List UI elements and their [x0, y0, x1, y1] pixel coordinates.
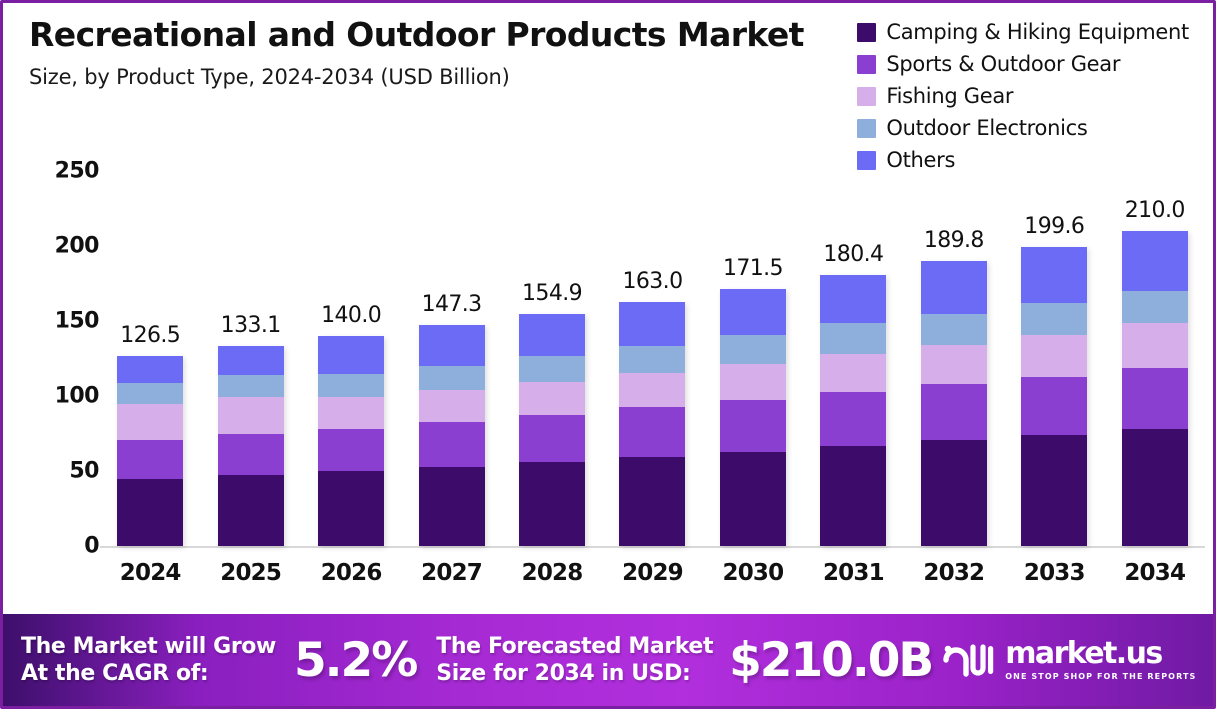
bar-segment[interactable]: [720, 452, 786, 546]
bar-segment[interactable]: [1021, 303, 1087, 335]
bar-segment[interactable]: [117, 479, 183, 547]
bar-segment[interactable]: [1122, 323, 1188, 368]
y-axis: 050100150200250: [23, 171, 99, 553]
bar-stack[interactable]: [720, 289, 786, 546]
bar-stack[interactable]: [419, 325, 485, 546]
legend-item-label: Camping & Hiking Equipment: [886, 20, 1189, 44]
forecast-label: The Forecasted Market Size for 2034 in U…: [436, 633, 713, 688]
bar-segment[interactable]: [720, 289, 786, 336]
bar-segment[interactable]: [419, 366, 485, 389]
footer-banner: The Market will Grow At the CAGR of: 5.2…: [3, 614, 1216, 706]
bar-segment[interactable]: [519, 382, 585, 415]
legend-item[interactable]: Camping & Hiking Equipment: [857, 17, 1189, 47]
legend-item-label: Sports & Outdoor Gear: [886, 52, 1120, 76]
bar-segment[interactable]: [820, 323, 886, 354]
forecast-value: $210.0B: [729, 633, 932, 688]
chart-header: Recreational and Outdoor Products Market…: [29, 17, 829, 89]
bar-total-label: 199.6: [1024, 214, 1084, 239]
legend-swatch-icon: [857, 151, 876, 170]
bar-stack[interactable]: [619, 302, 685, 547]
bar-segment[interactable]: [820, 446, 886, 546]
bar-segment[interactable]: [218, 434, 284, 474]
bar-segment[interactable]: [419, 467, 485, 546]
x-axis-tick-label: 2024: [104, 560, 196, 586]
bar-segment[interactable]: [419, 325, 485, 366]
legend-item-label: Others: [886, 148, 955, 172]
cagr-label-line2: At the CAGR of:: [21, 661, 208, 686]
bar-segment[interactable]: [519, 415, 585, 462]
y-axis-tick-label: 150: [55, 309, 99, 334]
market-us-logo[interactable]: market.us ONE STOP SHOP FOR THE REPORTS: [942, 639, 1196, 681]
x-axis-tick-label: 2033: [1008, 560, 1100, 586]
bar-total-label: 210.0: [1125, 198, 1185, 223]
bar-segment[interactable]: [419, 390, 485, 422]
legend-swatch-icon: [857, 23, 876, 42]
x-axis-tick-label: 2032: [908, 560, 1000, 586]
bar-total-label: 133.1: [221, 313, 281, 338]
bar-total-label: 154.9: [522, 281, 582, 306]
bar-group[interactable]: 189.8: [908, 171, 1000, 546]
bar-segment[interactable]: [419, 422, 485, 468]
y-axis-tick-label: 100: [55, 384, 99, 409]
bar-segment[interactable]: [318, 429, 384, 471]
x-axis-tick-label: 2027: [406, 560, 498, 586]
bar-segment[interactable]: [117, 404, 183, 440]
bar-group[interactable]: 180.4: [807, 171, 899, 546]
bar-segment[interactable]: [318, 374, 384, 398]
y-axis-tick-label: 50: [69, 459, 99, 484]
bar-segment[interactable]: [720, 364, 786, 400]
bar-segment[interactable]: [1021, 247, 1087, 303]
bar-segment[interactable]: [820, 392, 886, 447]
bar-segment[interactable]: [117, 356, 183, 383]
chart-subtitle: Size, by Product Type, 2024-2034 (USD Bi…: [29, 65, 829, 89]
y-axis-tick-label: 250: [55, 159, 99, 184]
bar-group[interactable]: 133.1: [205, 171, 297, 546]
bar-stack[interactable]: [820, 275, 886, 546]
x-axis-tick-label: 2026: [305, 560, 397, 586]
bar-group[interactable]: 126.5: [104, 171, 196, 546]
bar-segment[interactable]: [1021, 435, 1087, 546]
chart-legend: Camping & Hiking EquipmentSports & Outdo…: [857, 17, 1189, 175]
bar-segment[interactable]: [1122, 368, 1188, 430]
bar-stack[interactable]: [218, 346, 284, 546]
legend-swatch-icon: [857, 119, 876, 138]
bar-segment[interactable]: [1021, 335, 1087, 376]
bar-segment[interactable]: [921, 440, 987, 546]
bar-total-label: 140.0: [321, 303, 381, 328]
y-axis-tick-label: 0: [84, 534, 99, 559]
bar-group[interactable]: 171.5: [707, 171, 799, 546]
x-axis: 2024202520262027202820292030203120322033…: [100, 560, 1205, 586]
bar-segment[interactable]: [921, 261, 987, 314]
cagr-label: The Market will Grow At the CAGR of:: [21, 633, 276, 688]
legend-item[interactable]: Fishing Gear: [857, 81, 1013, 111]
x-axis-tick-label: 2031: [807, 560, 899, 586]
bar-segment[interactable]: [1122, 291, 1188, 323]
market-us-logo-mark-icon: [942, 640, 996, 680]
bar-segment[interactable]: [318, 397, 384, 429]
bar-segment[interactable]: [519, 462, 585, 546]
bar-segment[interactable]: [1122, 429, 1188, 546]
bar-segment[interactable]: [218, 346, 284, 375]
bar-segment[interactable]: [921, 384, 987, 440]
legend-item[interactable]: Sports & Outdoor Gear: [857, 49, 1120, 79]
bar-segment[interactable]: [318, 336, 384, 374]
bar-segment[interactable]: [1122, 231, 1188, 291]
cagr-value: 5.2%: [294, 633, 416, 688]
bar-segment[interactable]: [318, 471, 384, 546]
bar-segment[interactable]: [619, 407, 685, 457]
bar-total-label: 171.5: [723, 256, 783, 281]
bar-total-label: 163.0: [622, 269, 682, 294]
x-axis-tick-label: 2034: [1109, 560, 1201, 586]
bar-stack[interactable]: [519, 314, 585, 546]
bar-group[interactable]: 163.0: [606, 171, 698, 546]
bar-segment[interactable]: [619, 346, 685, 373]
bar-segment[interactable]: [117, 440, 183, 478]
page-title: Recreational and Outdoor Products Market: [29, 17, 829, 54]
x-axis-tick-label: 2025: [205, 560, 297, 586]
x-axis-tick-label: 2030: [707, 560, 799, 586]
bar-segment[interactable]: [619, 302, 685, 346]
infographic-root: Recreational and Outdoor Products Market…: [0, 0, 1216, 709]
bar-segment[interactable]: [921, 314, 987, 346]
bar-group[interactable]: 147.3: [406, 171, 498, 546]
x-axis-tick-label: 2029: [606, 560, 698, 586]
bar-segment[interactable]: [820, 354, 886, 392]
bar-segment[interactable]: [619, 457, 685, 546]
bar-group[interactable]: 140.0: [305, 171, 397, 546]
legend-item-label: Outdoor Electronics: [886, 116, 1087, 140]
bar-segment[interactable]: [218, 397, 284, 435]
bar-segment[interactable]: [1021, 377, 1087, 436]
bar-stack[interactable]: [921, 261, 987, 546]
bar-total-label: 147.3: [422, 292, 482, 317]
bar-group[interactable]: 210.0: [1109, 171, 1201, 546]
cagr-label-line1: The Market will Grow: [21, 634, 276, 659]
legend-item[interactable]: Outdoor Electronics: [857, 113, 1087, 143]
legend-swatch-icon: [857, 87, 876, 106]
bar-stack[interactable]: [117, 356, 183, 546]
logo-text-block: market.us ONE STOP SHOP FOR THE REPORTS: [1005, 639, 1196, 681]
bar-segment[interactable]: [519, 356, 585, 382]
forecast-label-line1: The Forecasted Market: [436, 634, 713, 659]
bar-group[interactable]: 154.9: [506, 171, 598, 546]
y-axis-tick-label: 200: [55, 234, 99, 259]
bar-group[interactable]: 199.6: [1008, 171, 1100, 546]
logo-tagline: ONE STOP SHOP FOR THE REPORTS: [1005, 673, 1196, 681]
bar-segment[interactable]: [519, 314, 585, 357]
x-axis-tick-label: 2028: [506, 560, 598, 586]
logo-name: market.us: [1005, 639, 1196, 669]
plot-area: 050100150200250 126.5133.1140.0147.3154.…: [3, 171, 1216, 601]
bar-segment[interactable]: [720, 335, 786, 364]
bar-total-label: 126.5: [120, 323, 180, 348]
forecast-label-line2: Size for 2034 in USD:: [436, 661, 690, 686]
bar-segment[interactable]: [218, 475, 284, 546]
bar-stack[interactable]: [1122, 231, 1188, 546]
bar-stack[interactable]: [318, 336, 384, 546]
bar-segment[interactable]: [820, 275, 886, 323]
bar-series-container: 126.5133.1140.0147.3154.9163.0171.5180.4…: [100, 171, 1205, 546]
bar-segment[interactable]: [720, 400, 786, 453]
bar-segment[interactable]: [921, 345, 987, 384]
bar-total-label: 189.8: [924, 228, 984, 253]
bar-segment[interactable]: [619, 373, 685, 407]
x-axis-line: [100, 546, 1205, 548]
bar-stack[interactable]: [1021, 247, 1087, 546]
bar-segment[interactable]: [218, 375, 284, 397]
legend-swatch-icon: [857, 55, 876, 74]
bar-total-label: 180.4: [823, 242, 883, 267]
bar-segment[interactable]: [117, 383, 183, 404]
legend-item-label: Fishing Gear: [886, 84, 1013, 108]
